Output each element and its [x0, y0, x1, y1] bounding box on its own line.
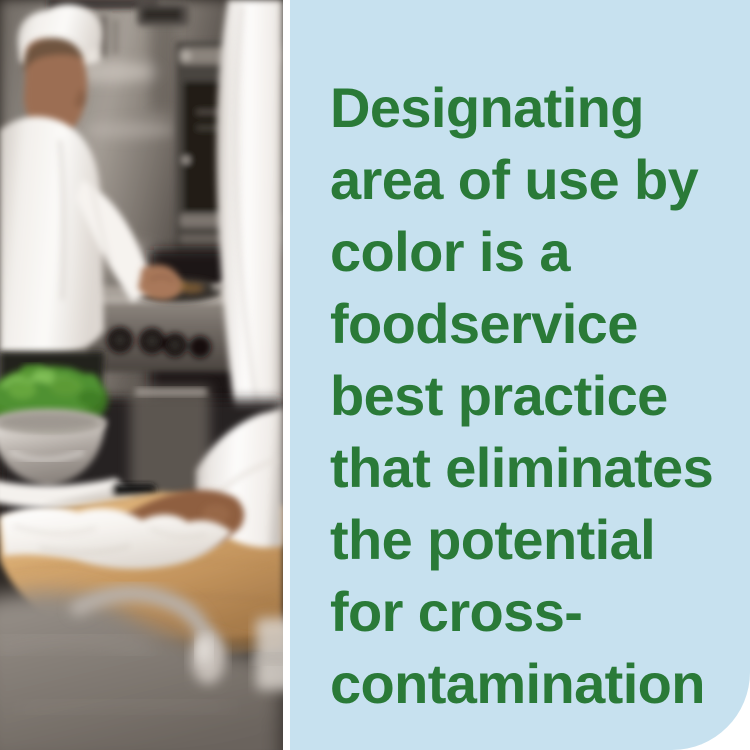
kitchen-photo: [0, 0, 283, 750]
panel-divider: [283, 0, 290, 750]
infographic-canvas: Designating area of use by color is a fo…: [0, 0, 750, 750]
side-container: [256, 618, 283, 690]
headline-text: Designating area of use by color is a fo…: [330, 72, 730, 720]
panel-trim: [135, 388, 207, 396]
kitchen-photo-illustration: [0, 0, 283, 750]
